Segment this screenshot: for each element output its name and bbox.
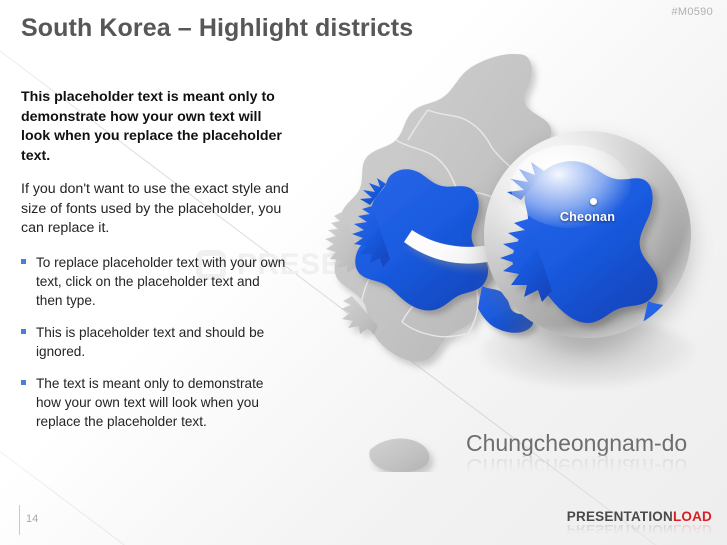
footer-divider — [19, 505, 20, 535]
brand-logo-reflection: PRESENTATIONLOAD — [567, 522, 712, 537]
document-id: #M0590 — [671, 6, 713, 18]
bullet-square-icon — [21, 259, 26, 264]
list-item-label: This is placeholder text and should be i… — [36, 325, 264, 359]
list-item[interactable]: To replace placeholder text with your ow… — [21, 253, 289, 310]
page-title: South Korea – Highlight districts — [21, 14, 413, 43]
brand-logo: PRESENTATIONLOAD — [567, 509, 712, 524]
text-column: This placeholder text is meant only to d… — [21, 88, 289, 444]
brand-logo-reflection-part1: PRESENTATION — [567, 522, 673, 537]
bullet-square-icon — [21, 380, 26, 385]
list-item-label: The text is meant only to demonstrate ho… — [36, 376, 263, 429]
brand-logo-part1: PRESENTATION — [567, 509, 673, 524]
slide-canvas: South Korea – Highlight districts #M0590… — [0, 0, 727, 545]
list-item[interactable]: This is placeholder text and should be i… — [21, 323, 289, 361]
city-label: Cheonan — [484, 210, 691, 224]
brand-logo-part2: LOAD — [673, 509, 712, 524]
jeju-island — [369, 438, 429, 472]
bullet-list: To replace placeholder text with your ow… — [21, 253, 289, 431]
city-marker-dot — [590, 198, 597, 205]
district-caption: Chungcheongnam-do — [466, 430, 687, 457]
bullet-square-icon — [21, 329, 26, 334]
sphere-rim — [484, 131, 691, 338]
list-item[interactable]: The text is meant only to demonstrate ho… — [21, 374, 289, 431]
intro-bold-paragraph: This placeholder text is meant only to d… — [21, 88, 289, 166]
magnifier-sphere[interactable]: Cheonan — [484, 131, 691, 338]
page-number: 14 — [26, 513, 38, 525]
brand-logo-reflection-part2: LOAD — [673, 522, 712, 537]
intro-regular-paragraph: If you don't want to use the exact style… — [21, 180, 289, 239]
list-item-label: To replace placeholder text with your ow… — [36, 255, 285, 308]
